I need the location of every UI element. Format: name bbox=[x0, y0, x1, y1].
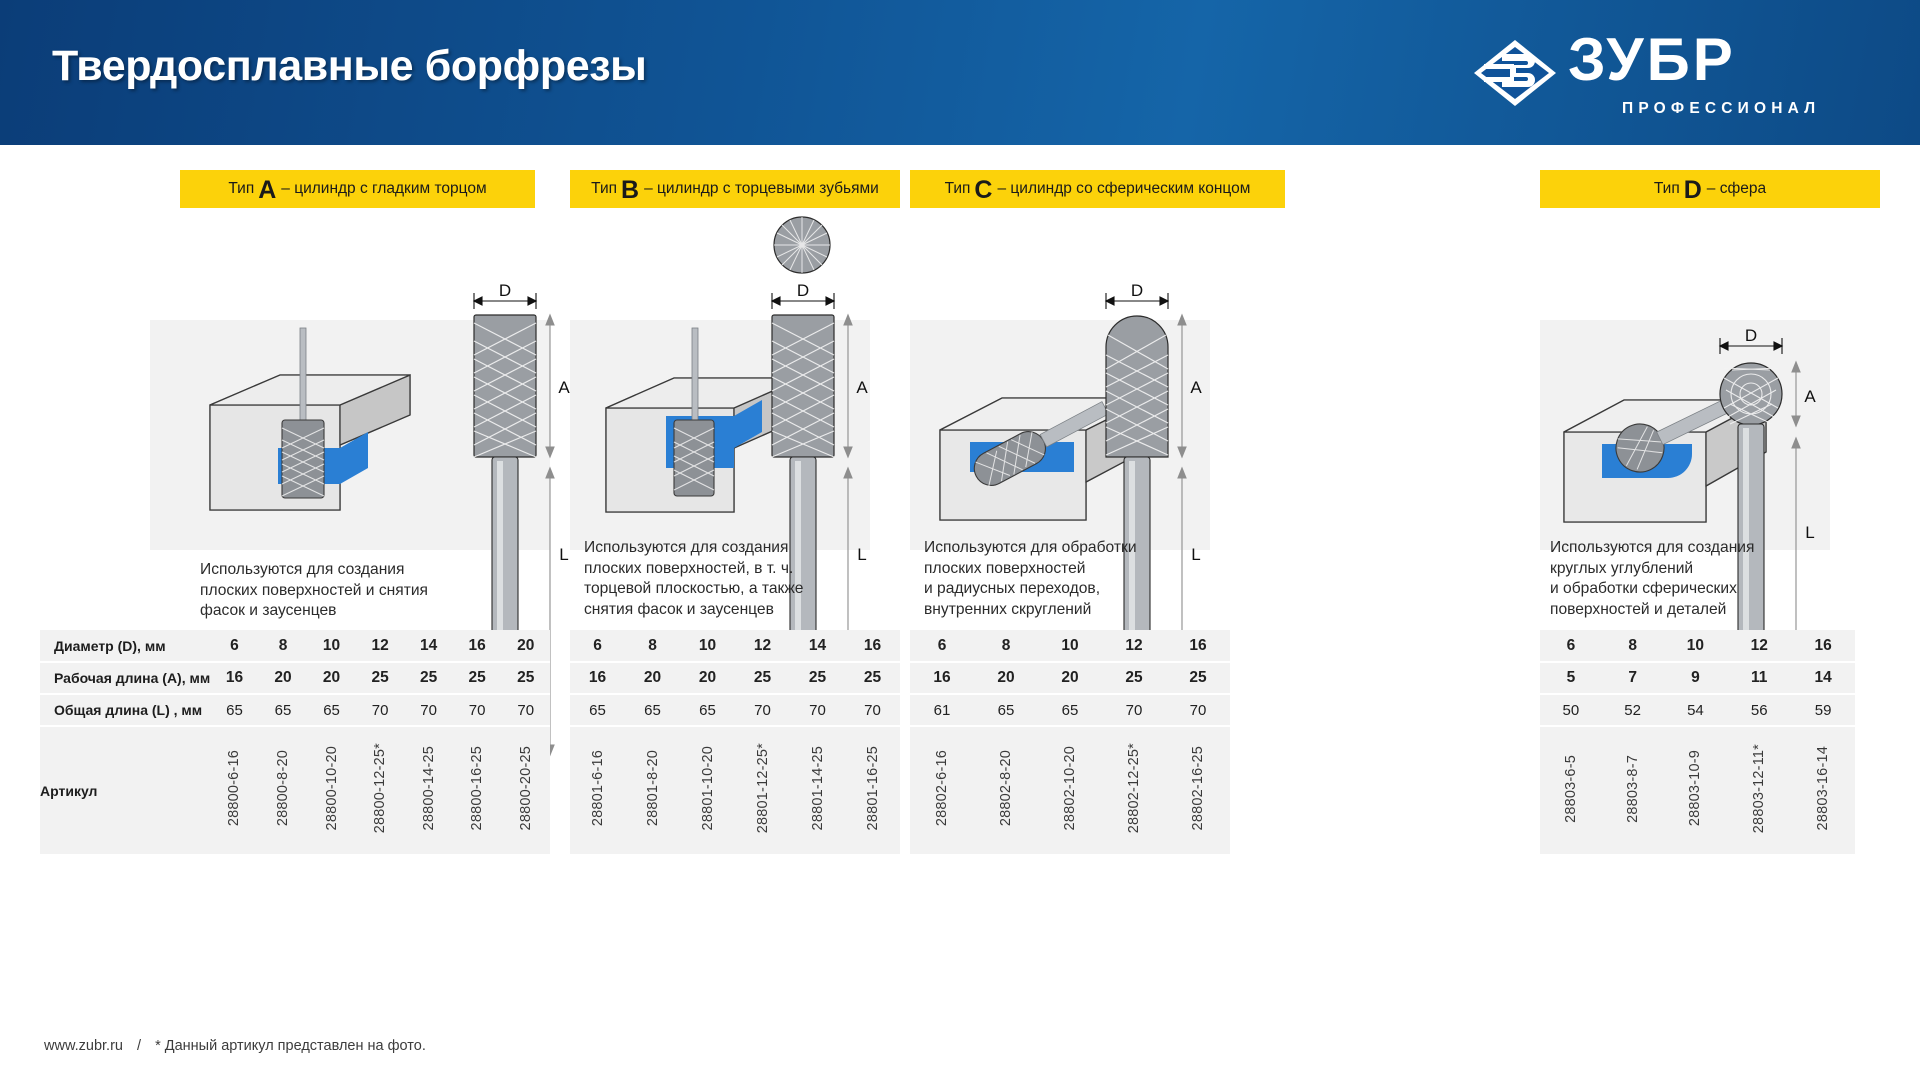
cell-diameter: 10 bbox=[1038, 630, 1102, 662]
cell-work-length: 20 bbox=[680, 662, 735, 694]
logo-wordmark: ЗУБР bbox=[1568, 30, 1736, 90]
cell-article: 28802-6-16 bbox=[910, 726, 974, 854]
cell-article: 28801-16-25 bbox=[845, 726, 900, 854]
table-row-total-length: Общая длина (L) , мм 65 65 65 70 70 70 7… bbox=[40, 694, 550, 726]
footer-note: * Данный артикул представлен на фото. bbox=[155, 1038, 426, 1054]
cell-total-length: 70 bbox=[790, 694, 845, 726]
cell-work-length: 25 bbox=[453, 662, 502, 694]
svg-text:A: A bbox=[856, 378, 868, 397]
logo-tagline: ПРОФЕССИОНАЛ bbox=[1622, 100, 1820, 118]
type-c-letter: C bbox=[974, 178, 992, 203]
cell-diameter: 6 bbox=[1540, 630, 1602, 662]
cell-total-length: 65 bbox=[680, 694, 735, 726]
cell-work-length: 16 bbox=[570, 662, 625, 694]
type-a-header: Тип A – цилиндр с гладким торцом bbox=[180, 170, 535, 208]
cell-article: 28802-12-25* bbox=[1102, 726, 1166, 854]
table-row-article: 28802-6-16 28802-8-20 28802-10-20 28802-… bbox=[910, 726, 1230, 854]
cell-diameter: 6 bbox=[570, 630, 625, 662]
row-label-article: Артикул bbox=[40, 726, 210, 854]
cell-total-length: 65 bbox=[570, 694, 625, 726]
table-row-total-length: 61 65 65 70 70 bbox=[910, 694, 1230, 726]
zubr-diamond-logo-icon bbox=[1472, 38, 1558, 108]
type-a-spec-table: Диаметр (D), мм 6 8 10 12 14 16 20 Рабоч… bbox=[40, 630, 550, 854]
cell-total-length: 70 bbox=[845, 694, 900, 726]
svg-text:D: D bbox=[797, 281, 809, 300]
type-c-spec-table: 6 8 10 12 16 16 20 20 25 25 61 65 65 70 … bbox=[910, 630, 1230, 854]
table-row-article: 28803-6-5 28803-8-7 28803-10-9 28803-12-… bbox=[1540, 726, 1855, 854]
cell-article: 28800-10-20 bbox=[307, 726, 356, 854]
type-d-suffix: – сфера bbox=[1707, 180, 1766, 198]
cell-total-length: 70 bbox=[404, 694, 453, 726]
cell-diameter: 8 bbox=[625, 630, 680, 662]
svg-text:A: A bbox=[1190, 378, 1202, 397]
cell-work-length: 20 bbox=[625, 662, 680, 694]
type-d-letter: D bbox=[1684, 178, 1702, 203]
cell-diameter: 12 bbox=[1102, 630, 1166, 662]
cell-diameter: 14 bbox=[790, 630, 845, 662]
cell-total-length: 65 bbox=[259, 694, 308, 726]
type-d-description: Используются для создания круглых углубл… bbox=[1550, 538, 1840, 621]
cell-work-length: 25 bbox=[404, 662, 453, 694]
cell-work-length: 5 bbox=[1540, 662, 1602, 694]
cell-diameter: 12 bbox=[356, 630, 405, 662]
cell-article: 28801-12-25* bbox=[735, 726, 790, 854]
type-d-header: Тип D – сфера bbox=[1540, 170, 1880, 208]
page-footer: www.zubr.ru / * Данный артикул представл… bbox=[44, 1038, 426, 1054]
cell-work-length: 25 bbox=[790, 662, 845, 694]
cell-work-length: 25 bbox=[356, 662, 405, 694]
cell-article: 28800-16-25 bbox=[453, 726, 502, 854]
cell-article: 28801-10-20 bbox=[680, 726, 735, 854]
type-c-description: Используются для обработки плоских повер… bbox=[924, 538, 1214, 621]
cell-work-length: 14 bbox=[1791, 662, 1855, 694]
type-d-prefix: Тип bbox=[1654, 180, 1680, 198]
cell-work-length: 20 bbox=[974, 662, 1038, 694]
cell-diameter: 8 bbox=[1602, 630, 1664, 662]
table-row-diameter: 6 8 10 12 14 16 bbox=[570, 630, 900, 662]
type-b-spec-table: 6 8 10 12 14 16 16 20 20 25 25 25 65 65 … bbox=[570, 630, 900, 854]
type-a-suffix: – цилиндр с гладким торцом bbox=[281, 180, 486, 198]
cell-total-length: 59 bbox=[1791, 694, 1855, 726]
cell-diameter: 10 bbox=[1664, 630, 1728, 662]
cell-article: 28801-8-20 bbox=[625, 726, 680, 854]
cell-article: 28800-8-20 bbox=[259, 726, 308, 854]
table-row-article: 28801-6-16 28801-8-20 28801-10-20 28801-… bbox=[570, 726, 900, 854]
type-b-prefix: Тип bbox=[591, 180, 617, 198]
svg-text:D: D bbox=[499, 281, 511, 300]
cell-work-length: 16 bbox=[210, 662, 259, 694]
footer-url[interactable]: www.zubr.ru bbox=[44, 1038, 123, 1054]
cell-article: 28800-20-25 bbox=[501, 726, 550, 854]
svg-text:A: A bbox=[558, 378, 570, 397]
svg-text:D: D bbox=[1131, 281, 1143, 300]
table-row-work-length: 16 20 20 25 25 25 bbox=[570, 662, 900, 694]
cell-article: 28802-16-25 bbox=[1166, 726, 1230, 854]
cell-work-length: 20 bbox=[259, 662, 308, 694]
cell-work-length: 25 bbox=[845, 662, 900, 694]
svg-text:A: A bbox=[1804, 387, 1816, 406]
cell-work-length: 20 bbox=[1038, 662, 1102, 694]
type-b-letter: B bbox=[621, 178, 639, 203]
cell-article: 28803-6-5 bbox=[1540, 726, 1602, 854]
cell-article: 28800-6-16 bbox=[210, 726, 259, 854]
cell-total-length: 70 bbox=[1166, 694, 1230, 726]
table-row-work-length: 5 7 9 11 14 bbox=[1540, 662, 1855, 694]
table-row-total-length: 50 52 54 56 59 bbox=[1540, 694, 1855, 726]
footer-separator: / bbox=[137, 1038, 141, 1054]
row-label-diameter: Диаметр (D), мм bbox=[40, 630, 210, 662]
cell-work-length: 25 bbox=[1102, 662, 1166, 694]
type-b-suffix: – цилиндр с торцевыми зубьями bbox=[644, 180, 879, 198]
cell-article: 28801-14-25 bbox=[790, 726, 845, 854]
svg-text:L: L bbox=[559, 545, 568, 564]
cell-diameter: 16 bbox=[1166, 630, 1230, 662]
type-b-header: Тип B – цилиндр с торцевыми зубьями bbox=[570, 170, 900, 208]
cell-work-length: 11 bbox=[1727, 662, 1791, 694]
cell-total-length: 54 bbox=[1664, 694, 1728, 726]
row-label-total-length: Общая длина (L) , мм bbox=[40, 694, 210, 726]
cell-article: 28802-10-20 bbox=[1038, 726, 1102, 854]
table-row-diameter: Диаметр (D), мм 6 8 10 12 14 16 20 bbox=[40, 630, 550, 662]
cell-article: 28803-16-14 bbox=[1791, 726, 1855, 854]
cell-total-length: 70 bbox=[453, 694, 502, 726]
row-label-work-length: Рабочая длина (A), мм bbox=[40, 662, 210, 694]
type-a-prefix: Тип bbox=[228, 180, 254, 198]
cell-total-length: 65 bbox=[1038, 694, 1102, 726]
table-row-diameter: 6 8 10 12 16 bbox=[1540, 630, 1855, 662]
cell-article: 28800-14-25 bbox=[404, 726, 453, 854]
cell-total-length: 70 bbox=[1102, 694, 1166, 726]
table-row-work-length: Рабочая длина (A), мм 16 20 20 25 25 25 … bbox=[40, 662, 550, 694]
type-a-description: Используются для создания плоских поверх… bbox=[200, 560, 500, 622]
cell-diameter: 20 bbox=[501, 630, 550, 662]
cell-diameter: 10 bbox=[307, 630, 356, 662]
cell-total-length: 65 bbox=[210, 694, 259, 726]
cell-diameter: 8 bbox=[974, 630, 1038, 662]
type-c-suffix: – цилиндр со сферическим концом bbox=[997, 180, 1250, 198]
cell-diameter: 10 bbox=[680, 630, 735, 662]
type-c-prefix: Тип bbox=[945, 180, 971, 198]
cell-work-length: 25 bbox=[735, 662, 790, 694]
brand-logo: ЗУБР ПРОФЕССИОНАЛ bbox=[1472, 26, 1872, 126]
cell-total-length: 65 bbox=[974, 694, 1038, 726]
cell-total-length: 65 bbox=[625, 694, 680, 726]
cell-total-length: 61 bbox=[910, 694, 974, 726]
type-d-spec-table: 6 8 10 12 16 5 7 9 11 14 50 52 54 56 59 … bbox=[1540, 630, 1855, 854]
cell-total-length: 52 bbox=[1602, 694, 1664, 726]
type-c-header: Тип C – цилиндр со сферическим концом bbox=[910, 170, 1285, 208]
cell-work-length: 7 bbox=[1602, 662, 1664, 694]
cell-diameter: 16 bbox=[453, 630, 502, 662]
cell-diameter: 8 bbox=[259, 630, 308, 662]
type-panel-a: Тип A – цилиндр с гладким торцом bbox=[40, 145, 550, 1035]
cell-diameter: 6 bbox=[210, 630, 259, 662]
cell-diameter: 12 bbox=[1727, 630, 1791, 662]
cell-total-length: 65 bbox=[307, 694, 356, 726]
type-panel-d: Тип D – сфера D bbox=[1240, 145, 1880, 1035]
type-b-description: Используются для создания плоских поверх… bbox=[584, 538, 874, 621]
cell-diameter: 12 bbox=[735, 630, 790, 662]
cell-total-length: 70 bbox=[501, 694, 550, 726]
table-row-work-length: 16 20 20 25 25 bbox=[910, 662, 1230, 694]
cell-article: 28803-12-11* bbox=[1727, 726, 1791, 854]
cell-diameter: 14 bbox=[404, 630, 453, 662]
cell-total-length: 56 bbox=[1727, 694, 1791, 726]
cell-article: 28803-10-9 bbox=[1664, 726, 1728, 854]
cell-article: 28801-6-16 bbox=[570, 726, 625, 854]
cell-article: 28800-12-25* bbox=[356, 726, 405, 854]
cell-work-length: 20 bbox=[307, 662, 356, 694]
cell-diameter: 6 bbox=[910, 630, 974, 662]
table-row-article: Артикул 28800-6-16 28800-8-20 28800-10-2… bbox=[40, 726, 550, 854]
svg-text:D: D bbox=[1745, 326, 1757, 345]
cell-article: 28803-8-7 bbox=[1602, 726, 1664, 854]
cell-work-length: 16 bbox=[910, 662, 974, 694]
cell-total-length: 70 bbox=[735, 694, 790, 726]
cell-diameter: 16 bbox=[1791, 630, 1855, 662]
page-title: Твердосплавные борфрезы bbox=[52, 42, 647, 91]
cell-total-length: 50 bbox=[1540, 694, 1602, 726]
table-row-diameter: 6 8 10 12 16 bbox=[910, 630, 1230, 662]
cell-diameter: 16 bbox=[845, 630, 900, 662]
cell-total-length: 70 bbox=[356, 694, 405, 726]
type-a-letter: A bbox=[258, 178, 276, 203]
table-row-total-length: 65 65 65 70 70 70 bbox=[570, 694, 900, 726]
page-header: Твердосплавные борфрезы ЗУБР ПРОФЕССИОНА… bbox=[0, 0, 1920, 145]
cell-work-length: 9 bbox=[1664, 662, 1728, 694]
cell-work-length: 25 bbox=[1166, 662, 1230, 694]
cell-article: 28802-8-20 bbox=[974, 726, 1038, 854]
cell-work-length: 25 bbox=[501, 662, 550, 694]
